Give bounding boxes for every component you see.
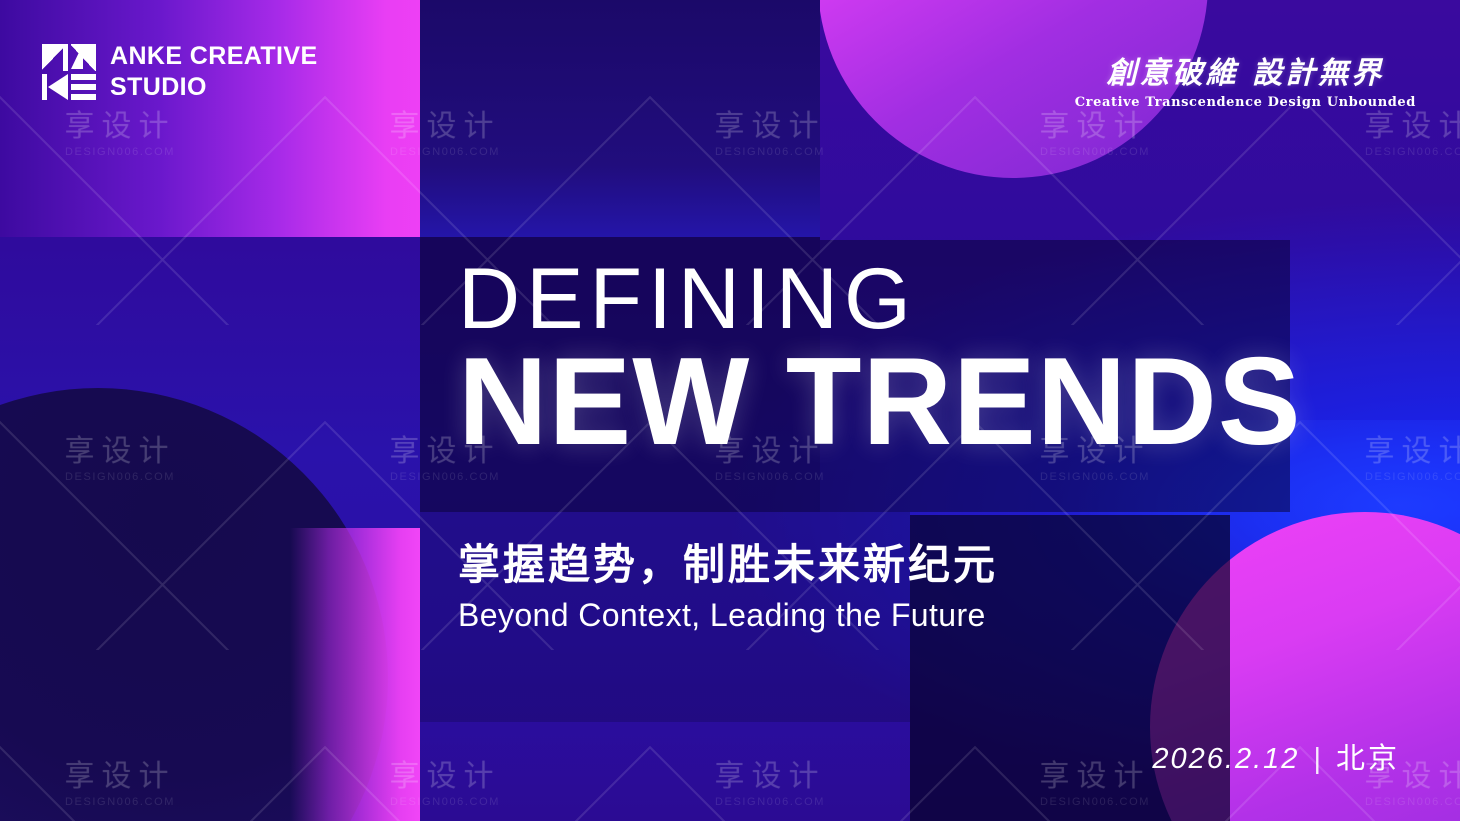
slogan-english: Creative Transcendence Design Unbounded bbox=[1075, 95, 1416, 110]
headline: DEFINING NEW TRENDS bbox=[458, 258, 1302, 459]
brand-name: ANKE CREATIVE STUDIO bbox=[110, 44, 318, 100]
slogan-calligraphy: 創意破維 設計無界 Creative Transcendence Design … bbox=[1075, 48, 1416, 110]
subtitle-chinese: 掌握趋势，制胜未来新纪元 bbox=[458, 543, 998, 587]
logo-glyph-bottom-left bbox=[42, 74, 68, 101]
meta-separator: | bbox=[1313, 743, 1322, 776]
event-meta: 2026.2.12 | 北京 bbox=[1152, 735, 1400, 777]
logo-glyph-top-left bbox=[42, 44, 68, 71]
brand-name-line1: ANKE CREATIVE bbox=[110, 44, 318, 69]
event-city: 北京 bbox=[1336, 735, 1400, 777]
brand-name-line2: STUDIO bbox=[110, 75, 318, 100]
logo-glyph-top-right bbox=[71, 44, 97, 71]
brand-logo[interactable]: ANKE CREATIVE STUDIO bbox=[42, 44, 318, 100]
event-date: 2026.2.12 bbox=[1152, 743, 1299, 776]
anke-logo-mark-icon bbox=[42, 44, 96, 100]
poster-canvas: 享设计DESIGN006.COM享设计DESIGN006.COM享设计DESIG… bbox=[0, 0, 1460, 821]
slogan-chinese: 創意破維 設計無界 bbox=[1075, 48, 1416, 92]
headline-line2: NEW TRENDS bbox=[458, 345, 1302, 459]
subtitle: 掌握趋势，制胜未来新纪元 Beyond Context, Leading the… bbox=[458, 543, 998, 634]
headline-line1: DEFINING bbox=[458, 258, 1302, 341]
logo-glyph-bottom-right bbox=[71, 74, 97, 101]
subtitle-english: Beyond Context, Leading the Future bbox=[458, 597, 998, 634]
